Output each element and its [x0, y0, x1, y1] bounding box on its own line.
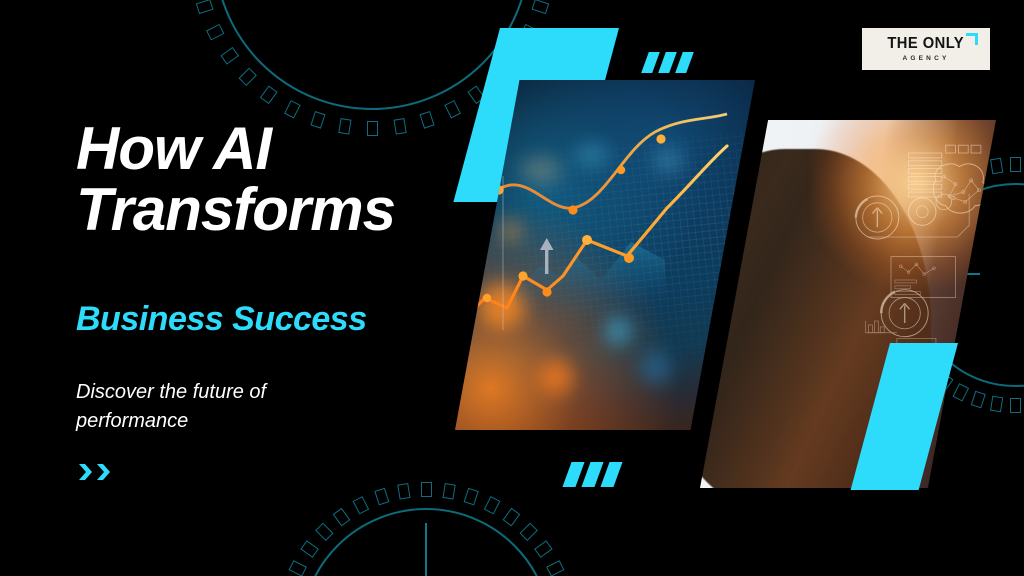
gauge-tick: [990, 396, 1003, 413]
gauge-tick: [970, 391, 985, 409]
gauge-tick: [220, 47, 239, 65]
gauge-tick: [502, 508, 520, 527]
gauge-tick: [315, 523, 333, 541]
chevron-right-icon: [78, 462, 93, 482]
gauge-tick: [463, 488, 478, 506]
gauge-hand: [425, 523, 428, 576]
gauge-tick: [1010, 157, 1021, 172]
logo-name: THE ONLY: [888, 36, 965, 52]
gauge-tick: [952, 383, 969, 401]
logo-mark: THE ONLY: [884, 36, 967, 52]
gauge-tick: [374, 488, 389, 506]
gauge-tick: [534, 540, 553, 558]
gauge-circle: [300, 508, 552, 576]
gauge-tick: [444, 100, 461, 118]
gauge-tick: [421, 482, 432, 497]
gauge-tick: [288, 560, 306, 576]
headline-line-2: Transforms: [76, 179, 516, 240]
brand-logo[interactable]: THE ONLY AGENCY: [862, 28, 990, 70]
slash-mark: [675, 52, 694, 73]
gauge-ticks: [274, 482, 578, 576]
logo-subtitle: AGENCY: [902, 56, 949, 63]
gauge-tick: [483, 496, 500, 514]
headline-line-1: How AI: [76, 118, 516, 179]
page-title: How AI Transforms: [76, 118, 516, 240]
slash-mark: [581, 462, 603, 487]
gauge-tick: [519, 523, 537, 541]
thinking-person-hud-photo: [700, 120, 996, 488]
slide-canvas: How AI Transforms Business Success Disco…: [0, 0, 1024, 576]
double-chevron-right-icon[interactable]: [78, 462, 111, 482]
logo-corner-accent-icon: [966, 33, 978, 45]
chevron-right-icon: [96, 462, 111, 482]
gauge-tick: [990, 158, 1003, 175]
gauge-tick: [284, 100, 301, 118]
gauge-tick: [259, 85, 277, 104]
gauge-tick: [546, 560, 564, 576]
gauge-tick: [397, 483, 410, 500]
gauge-tick: [1010, 398, 1021, 413]
cyan-slashes-top: [645, 52, 690, 73]
slash-mark: [658, 52, 677, 73]
gauge-tick: [352, 496, 369, 514]
gauge-tick: [195, 0, 213, 14]
tagline-text: Discover the future of performance: [76, 378, 376, 436]
subheadline: Business Success: [76, 300, 367, 339]
gauge-tick: [531, 0, 549, 14]
gauge-tick: [442, 483, 455, 500]
slash-mark: [641, 52, 660, 73]
gauge-ring-bottom-decoration: [300, 508, 552, 576]
gauge-tick: [238, 68, 256, 86]
slash-mark: [600, 462, 622, 487]
gauge-tick: [300, 540, 319, 558]
gauge-tick: [206, 24, 224, 41]
slash-mark: [562, 462, 584, 487]
warm-light-overlay: [700, 120, 996, 488]
gauge-tick: [332, 508, 350, 527]
cyan-slashes-bottom: [567, 462, 618, 487]
